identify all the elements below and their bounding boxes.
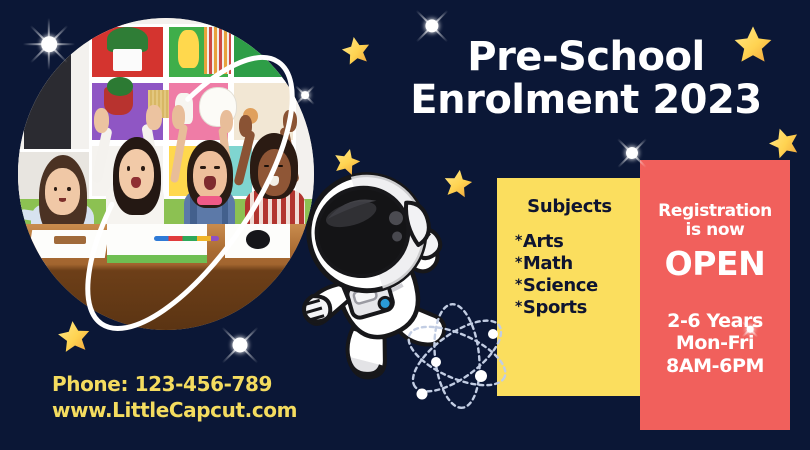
subjects-heading: Subjects (497, 196, 642, 217)
photo-vase-yellow (178, 30, 199, 67)
bullet-icon: * (515, 277, 522, 293)
photo-paper-left (28, 230, 109, 258)
subject-label: Arts (523, 231, 564, 252)
list-item: *Arts (515, 231, 642, 253)
bullet-icon: * (515, 255, 522, 271)
photo-circle-mask (18, 18, 314, 330)
photo-planter (113, 49, 143, 71)
registration-days: Mon-Fri (640, 332, 790, 354)
classroom-photo (18, 18, 314, 330)
registration-panel: Registration is now OPEN 2-6 Years Mon-F… (640, 160, 790, 430)
list-item: *Sports (515, 297, 642, 319)
subject-label: Sports (523, 297, 587, 318)
atom-icon (398, 300, 516, 412)
page-title: Pre-School Enrolment 2023 (386, 36, 786, 122)
poster-canvas: Pre-School Enrolment 2023 Subjects *Arts… (0, 0, 810, 450)
star-title-left-a-icon (339, 33, 374, 68)
status-badge: OPEN (640, 247, 790, 282)
photo-pencils (154, 236, 219, 241)
subject-label: Math (523, 253, 573, 274)
bullet-icon: * (515, 233, 522, 249)
title-line-1: Pre-School (386, 36, 786, 79)
registration-head-line-1: Registration (640, 202, 790, 221)
registration-hours: 8AM-6PM (640, 355, 790, 377)
subjects-panel: Subjects *Arts *Math *Science *Sports (497, 178, 642, 396)
photo-card-shape (246, 230, 270, 249)
photo-books-top (204, 27, 231, 74)
photo-curtain (24, 43, 71, 149)
list-item: *Science (515, 275, 642, 297)
photo-crayon (54, 236, 87, 244)
star-right-mid-icon (764, 122, 804, 162)
subjects-list: *Arts *Math *Science *Sports (515, 231, 642, 319)
bullet-icon: * (515, 299, 522, 315)
registration-head-line-2: is now (640, 221, 790, 240)
subject-label: Science (523, 275, 598, 296)
registration-ages: 2-6 Years (640, 310, 790, 332)
title-line-2: Enrolment 2023 (386, 79, 786, 122)
list-item: *Math (515, 253, 642, 275)
contact-website[interactable]: www.LittleCapcut.com (52, 398, 372, 424)
photo-book-edge (107, 255, 208, 263)
photo-cubby-green2 (231, 24, 296, 80)
